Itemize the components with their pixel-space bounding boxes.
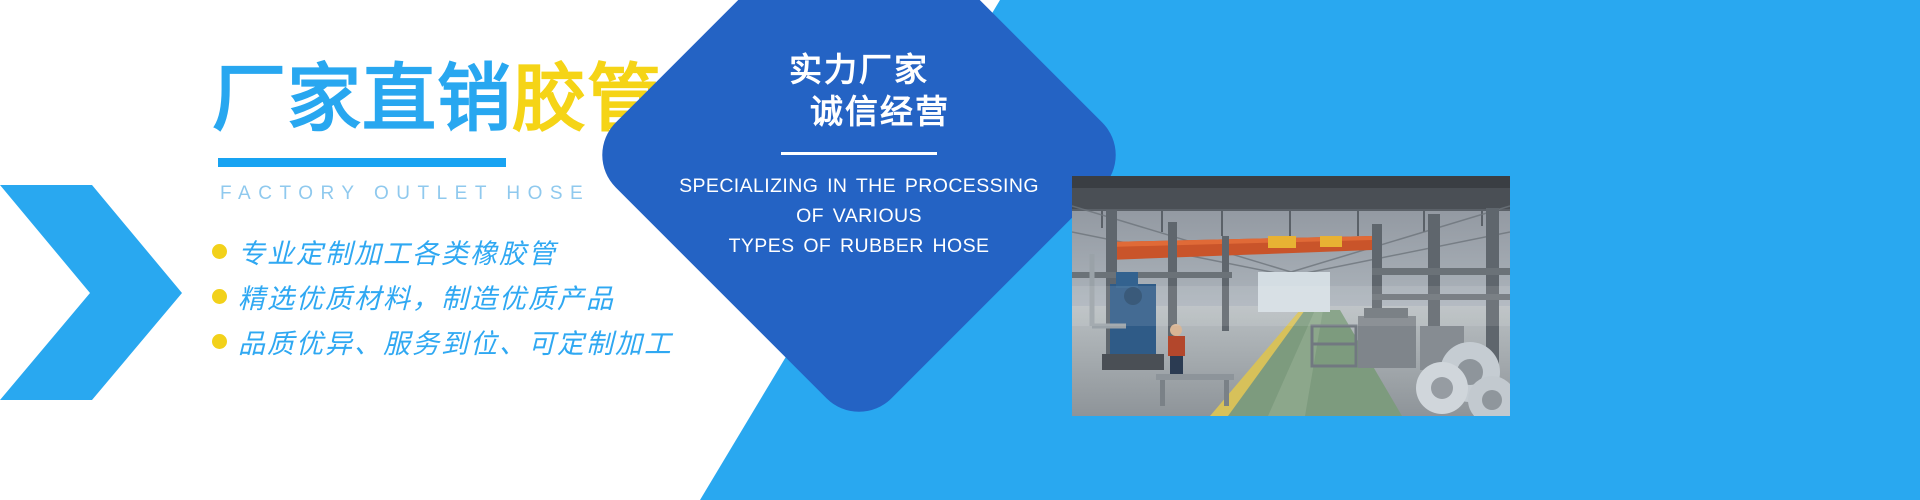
left-chevron-decoration: [0, 185, 182, 400]
list-item: 品质优异、服务到位、可定制加工: [212, 321, 712, 362]
bullet-dot-icon: [212, 289, 227, 304]
title-underline-bar: [218, 158, 506, 167]
badge-slogan-line-1: 实力厂家: [768, 49, 950, 91]
badge-english-caption: SPECIALIZING IN THE PROCESSING OF VARIOU…: [679, 172, 1039, 261]
badge-divider: [781, 152, 937, 155]
feature-list: 专业定制加工各类橡胶管 精选优质材料，制造优质产品 品质优异、服务到位、可定制加…: [212, 231, 712, 362]
bullet-dot-icon: [212, 334, 227, 349]
diamond-badge: 实力厂家 诚信经营 SPECIALIZING IN THE PROCESSING…: [664, 0, 1054, 350]
headline-part-blue: 厂家直销: [212, 57, 512, 140]
factory-photo-illustration: [1072, 176, 1510, 416]
list-item-label: 专业定制加工各类橡胶管: [238, 232, 557, 271]
list-item-label: 精选优质材料，制造优质产品: [238, 277, 615, 316]
bullet-dot-icon: [212, 244, 227, 259]
badge-english-line-2: OF VARIOUS: [679, 202, 1039, 232]
list-item: 精选优质材料，制造优质产品: [212, 276, 712, 317]
list-item: 专业定制加工各类橡胶管: [212, 231, 712, 272]
promo-banner: 厂家直销胶管 FACTORY OUTLET HOSE 专业定制加工各类橡胶管 精…: [0, 0, 1920, 500]
factory-photo: [1072, 176, 1510, 416]
list-item-label: 品质优异、服务到位、可定制加工: [238, 322, 673, 361]
badge-chinese-slogan: 实力厂家 诚信经营: [768, 49, 950, 133]
badge-english-line-1: SPECIALIZING IN THE PROCESSING: [679, 172, 1039, 202]
badge-english-line-3: TYPES OF RUBBER HOSE: [679, 232, 1039, 262]
badge-slogan-line-2: 诚信经营: [768, 91, 950, 133]
